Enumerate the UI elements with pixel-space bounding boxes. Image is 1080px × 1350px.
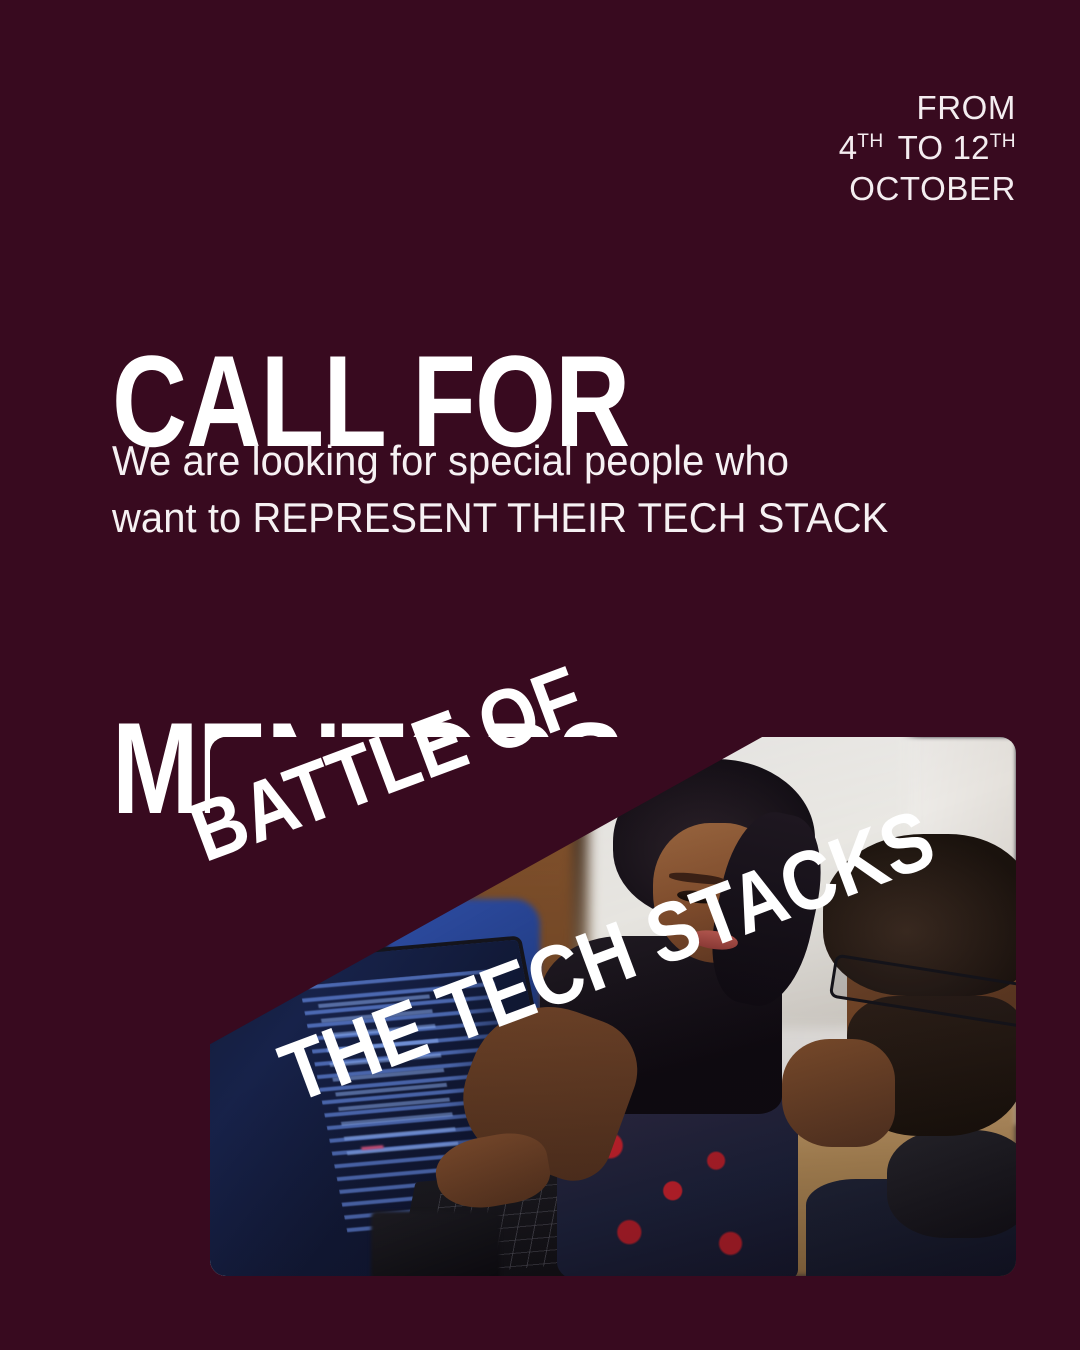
date-range-line: 4THTO 12TH [839,128,1016,168]
date-to-label: TO [898,129,944,166]
date-month: OCTOBER [839,169,1016,209]
date-from-label: FROM [839,88,1016,128]
date-start-day: 4 [839,129,858,166]
date-end-ordinal: TH [990,131,1016,152]
poster-canvas: FROM 4THTO 12TH OCTOBER CALL FOR MENTORS… [0,0,1080,1350]
date-end-day: 12 [953,129,990,166]
event-date-block: FROM 4THTO 12TH OCTOBER [839,88,1016,209]
date-start-ordinal: TH [857,131,883,152]
event-title-line-1: BATTLE OF [180,555,855,876]
event-title-line-2: THE TECH STACKS [270,796,945,1117]
